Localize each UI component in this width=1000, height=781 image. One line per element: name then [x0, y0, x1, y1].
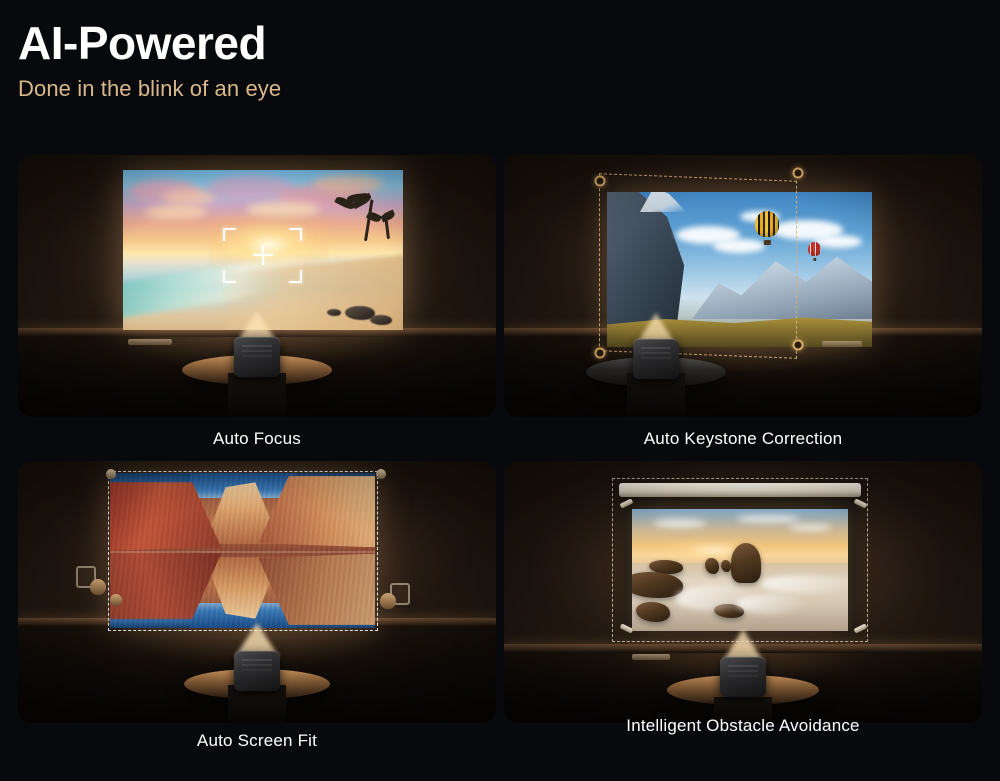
- soundbar: [128, 339, 172, 345]
- soundbar: [632, 654, 670, 660]
- feature-card-auto-keystone[interactable]: [504, 155, 982, 417]
- feature-caption-obstacle-avoidance: Intelligent Obstacle Avoidance: [504, 716, 982, 736]
- focus-bracket-bottom-right: [289, 270, 302, 283]
- page-header: AI-Powered Done in the blink of an eye: [18, 18, 618, 102]
- room-scene-auto-focus: [18, 155, 496, 417]
- wall-lamp-left-2: [110, 594, 122, 606]
- feature-grid: Auto Focus: [18, 155, 982, 767]
- feature-card-auto-screen-fit[interactable]: [18, 461, 496, 723]
- feature-cell-auto-screen-fit: Auto Screen Fit: [18, 461, 496, 767]
- feature-cell-auto-focus: Auto Focus: [18, 155, 496, 461]
- reflection-line: [110, 551, 375, 553]
- projected-image-seascape: [632, 509, 848, 631]
- wall-lamp-right: [380, 593, 396, 609]
- keystone-handle-bottom-right[interactable]: [793, 340, 804, 351]
- feature-cell-obstacle-avoidance: Intelligent Obstacle Avoidance: [504, 461, 982, 767]
- wall-lamp-left: [90, 579, 106, 595]
- ceiling-lamp-left: [106, 469, 116, 479]
- feature-caption-auto-screen-fit: Auto Screen Fit: [18, 731, 496, 751]
- floor-area: [504, 337, 982, 417]
- ceiling-lamp-right: [376, 469, 386, 479]
- roller-screen-case: [619, 483, 861, 497]
- seashore-artwork: [632, 509, 848, 631]
- foreground-rock-bottom: [636, 602, 670, 622]
- balloon-red: [808, 242, 821, 261]
- projected-image-beach: [123, 170, 403, 330]
- projector-device: [720, 657, 766, 697]
- room-scene-obstacle-avoidance: [504, 461, 982, 723]
- balloon-yellow: [755, 211, 779, 245]
- sea-stack-main: [731, 543, 761, 583]
- table-leg: [627, 373, 685, 417]
- focus-bracket-top-right: [289, 228, 302, 241]
- keystone-handle-bottom-left[interactable]: [595, 348, 606, 359]
- soundbar: [822, 341, 862, 347]
- focus-crosshair-icon: [253, 245, 273, 265]
- page-title: AI-Powered: [18, 18, 618, 70]
- projector-device: [633, 339, 679, 379]
- focus-bracket-top-left: [223, 228, 236, 241]
- projector-device: [234, 651, 280, 691]
- room-scene-auto-keystone: [504, 155, 982, 417]
- distant-mountains: [692, 245, 872, 319]
- page-subtitle: Done in the blink of an eye: [18, 76, 618, 102]
- room-scene-auto-screen-fit: [18, 461, 496, 723]
- wave-canyon-artwork: [110, 473, 375, 628]
- feature-card-obstacle-avoidance[interactable]: [504, 461, 982, 723]
- feature-caption-auto-focus: Auto Focus: [18, 429, 496, 449]
- focus-bracket-bottom-left: [223, 270, 236, 283]
- feature-card-auto-focus[interactable]: [18, 155, 496, 417]
- feature-caption-auto-keystone: Auto Keystone Correction: [504, 429, 982, 449]
- table-leg: [228, 373, 286, 417]
- projector-device: [234, 337, 280, 377]
- feature-cell-auto-keystone: Auto Keystone Correction: [504, 155, 982, 461]
- keystone-handle-top-right[interactable]: [793, 168, 804, 179]
- keystone-handle-top-left[interactable]: [595, 176, 606, 187]
- projected-image-canyon: [110, 473, 375, 628]
